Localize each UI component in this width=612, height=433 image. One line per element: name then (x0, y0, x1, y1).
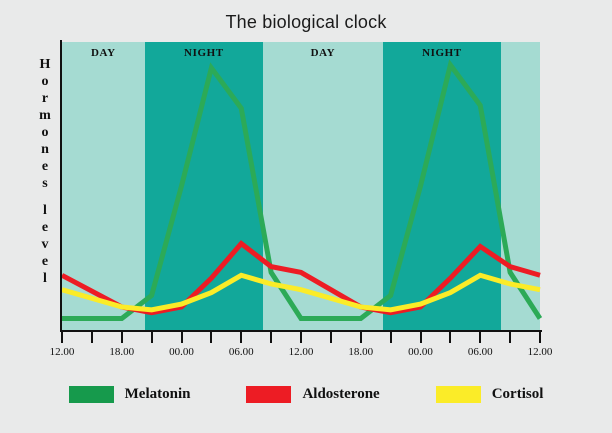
x-axis-tick (539, 332, 541, 343)
x-axis-tick (210, 332, 212, 343)
x-axis-tick (300, 332, 302, 343)
y-axis-label-char: l (43, 270, 47, 287)
series-line-cortisol (62, 275, 540, 310)
chart-title: The biological clock (0, 12, 612, 33)
y-axis-label-char: e (42, 219, 48, 236)
y-axis-label-char: e (42, 253, 48, 270)
y-axis-label-char: r (42, 90, 48, 107)
y-axis-label-char: o (42, 73, 49, 90)
x-axis-tick-label: 06.00 (229, 346, 254, 358)
x-axis-tick-label: 12.00 (528, 346, 553, 358)
x-axis-tick (420, 332, 422, 343)
x-axis-tick (390, 332, 392, 343)
biological-clock-chart: The biological clock Hormoneslevel DAYNI… (0, 0, 612, 433)
x-axis-tick-label: 06.00 (468, 346, 493, 358)
x-axis-tick (151, 332, 153, 343)
x-axis-tick (61, 332, 63, 343)
x-axis-tick (479, 332, 481, 343)
y-axis-label-char: o (42, 124, 49, 141)
legend-label: Aldosterone (302, 386, 379, 403)
y-axis-label-char: H (40, 56, 51, 73)
x-axis-tick (509, 332, 511, 343)
x-axis-tick-label: 18.00 (109, 346, 134, 358)
y-axis-label: Hormoneslevel (32, 56, 58, 326)
x-axis-tick-label: 18.00 (348, 346, 373, 358)
legend-label: Melatonin (125, 386, 191, 403)
series-line-aldosterone (62, 244, 540, 313)
x-axis-tick (330, 332, 332, 343)
x-axis-tick (360, 332, 362, 343)
legend-item-aldosterone[interactable]: Aldosterone (246, 386, 379, 403)
chart-legend: MelatoninAldosteroneCortisol (0, 386, 612, 403)
x-axis-tick (181, 332, 183, 343)
x-axis-tick-label: 00.00 (408, 346, 433, 358)
y-axis-label-char: e (42, 158, 48, 175)
legend-item-melatonin[interactable]: Melatonin (69, 386, 191, 403)
legend-item-cortisol[interactable]: Cortisol (436, 386, 544, 403)
x-axis-tick (121, 332, 123, 343)
x-axis-tick-label: 00.00 (169, 346, 194, 358)
y-axis-label-char: m (39, 107, 51, 124)
x-axis-tick-label: 12.00 (289, 346, 314, 358)
x-axis-tick-label: 12.00 (50, 346, 75, 358)
legend-label: Cortisol (492, 386, 544, 403)
x-axis-tick (449, 332, 451, 343)
y-axis-label-char: v (42, 236, 49, 253)
legend-swatch (246, 386, 291, 403)
legend-swatch (436, 386, 481, 403)
series-layer (62, 42, 540, 330)
x-axis-tick (240, 332, 242, 343)
y-axis-label-char: l (43, 202, 47, 219)
x-axis-tick (270, 332, 272, 343)
legend-swatch (69, 386, 114, 403)
y-axis-label-char: n (41, 141, 49, 158)
y-axis-line (60, 40, 62, 332)
y-axis-label-char: s (42, 175, 47, 192)
x-axis-tick (91, 332, 93, 343)
